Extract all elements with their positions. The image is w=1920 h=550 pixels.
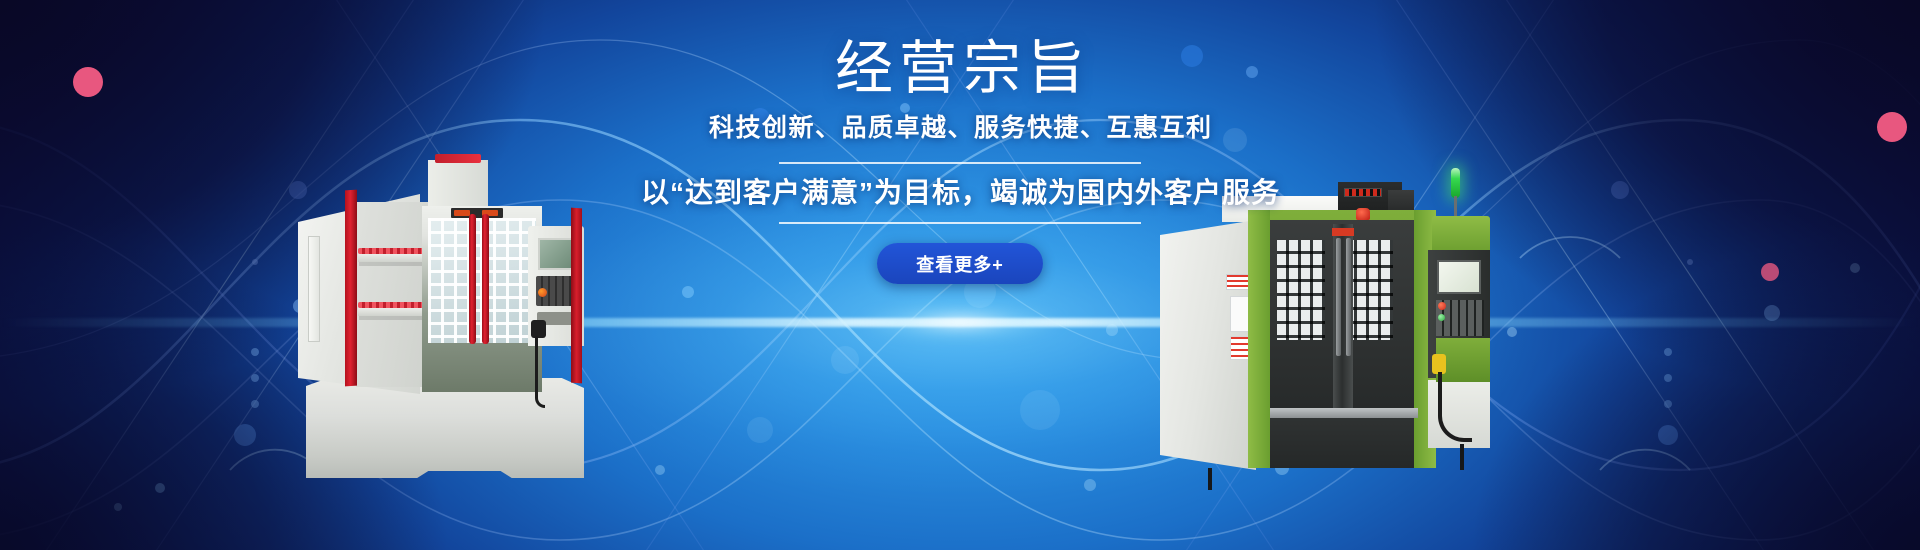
banner-text-block: 经营宗旨 科技创新、品质卓越、服务快捷、互惠互利 以“达到客户满意”为目标，竭诚… [0,0,1920,550]
view-more-button[interactable]: 查看更多+ [877,243,1043,284]
banner-subline: 科技创新、品质卓越、服务快捷、互惠互利 [0,112,1920,144]
divider-bottom [779,222,1141,224]
divider-top [779,162,1141,164]
promo-banner: 经营宗旨 科技创新、品质卓越、服务快捷、互惠互利 以“达到客户满意”为目标，竭诚… [0,0,1920,550]
banner-headline: 经营宗旨 [0,38,1920,100]
banner-tagline: 以“达到客户满意”为目标，竭诚为国内外客户服务 [0,172,1920,214]
